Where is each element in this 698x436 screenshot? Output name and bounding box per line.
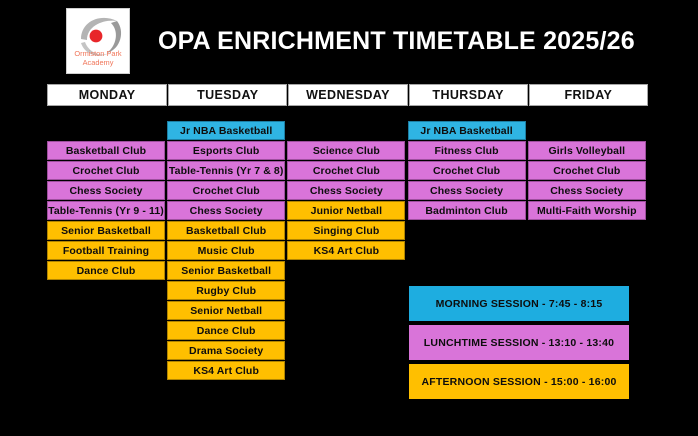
- activity-cell[interactable]: Science Club: [287, 141, 405, 160]
- activity-cell[interactable]: Girls Volleyball: [528, 141, 646, 160]
- activity-cell[interactable]: Table-Tennis (Yr 9 - 11): [47, 201, 165, 220]
- day-column-friday: Girls VolleyballCrochet ClubChess Societ…: [528, 121, 646, 221]
- svg-text:Academy: Academy: [83, 58, 114, 67]
- activity-cell[interactable]: Crochet Club: [47, 161, 165, 180]
- activity-cell[interactable]: Esports Club: [167, 141, 285, 160]
- activity-cell[interactable]: Rugby Club: [167, 281, 285, 300]
- svg-text:Ormiston Park: Ormiston Park: [74, 49, 122, 58]
- day-header-friday: FRIDAY: [529, 84, 648, 106]
- empty-slot: [528, 121, 646, 140]
- day-header-thursday: THURSDAY: [409, 84, 528, 106]
- activity-cell[interactable]: Basketball Club: [167, 221, 285, 240]
- activity-cell[interactable]: Crochet Club: [528, 161, 646, 180]
- activity-cell[interactable]: Fitness Club: [408, 141, 526, 160]
- activity-cell[interactable]: Crochet Club: [408, 161, 526, 180]
- page-title: OPA ENRICHMENT TIMETABLE 2025/26: [158, 20, 608, 62]
- activity-cell[interactable]: KS4 Art Club: [167, 361, 285, 380]
- activity-cell[interactable]: Crochet Club: [287, 161, 405, 180]
- activity-cell[interactable]: Crochet Club: [167, 181, 285, 200]
- activity-cell[interactable]: Singing Club: [287, 221, 405, 240]
- empty-slot: [287, 121, 405, 140]
- logo-graphic: Ormiston Park Academy: [67, 9, 129, 73]
- activity-cell[interactable]: Badminton Club: [408, 201, 526, 220]
- activity-cell[interactable]: Senior Netball: [167, 301, 285, 320]
- activity-cell[interactable]: Chess Society: [408, 181, 526, 200]
- day-column-thursday: Jr NBA BasketballFitness ClubCrochet Clu…: [408, 121, 526, 221]
- activity-cell[interactable]: Jr NBA Basketball: [167, 121, 285, 140]
- day-header-tuesday: TUESDAY: [168, 84, 287, 106]
- activity-cell[interactable]: KS4 Art Club: [287, 241, 405, 260]
- day-column-wednesday: Science ClubCrochet ClubChess SocietyJun…: [287, 121, 405, 261]
- session-legend: MORNING SESSION - 7:45 - 8:15LUNCHTIME S…: [408, 285, 630, 402]
- empty-slot: [47, 121, 165, 140]
- activity-cell[interactable]: Football Training: [47, 241, 165, 260]
- legend-morning: MORNING SESSION - 7:45 - 8:15: [408, 285, 630, 322]
- legend-lunch: LUNCHTIME SESSION - 13:10 - 13:40: [408, 324, 630, 361]
- activity-cell[interactable]: Chess Society: [528, 181, 646, 200]
- day-header-monday: MONDAY: [47, 84, 167, 106]
- page-header: Ormiston Park Academy OPA ENRICHMENT TIM…: [0, 0, 698, 84]
- activity-cell[interactable]: Basketball Club: [47, 141, 165, 160]
- legend-afternoon: AFTERNOON SESSION - 15:00 - 16:00: [408, 363, 630, 400]
- activity-cell[interactable]: Chess Society: [287, 181, 405, 200]
- activity-cell[interactable]: Dance Club: [47, 261, 165, 280]
- activity-cell[interactable]: Table-Tennis (Yr 7 & 8): [167, 161, 285, 180]
- activity-cell[interactable]: Drama Society: [167, 341, 285, 360]
- activity-cell[interactable]: Multi-Faith Worship: [528, 201, 646, 220]
- activity-cell[interactable]: Chess Society: [47, 181, 165, 200]
- activity-cell[interactable]: Jr NBA Basketball: [408, 121, 526, 140]
- activity-cell[interactable]: Dance Club: [167, 321, 285, 340]
- day-header-wednesday: WEDNESDAY: [288, 84, 407, 106]
- activity-cell[interactable]: Chess Society: [167, 201, 285, 220]
- activity-cell[interactable]: Senior Basketball: [167, 261, 285, 280]
- day-column-tuesday: Jr NBA BasketballEsports ClubTable-Tenni…: [167, 121, 285, 381]
- activity-cell[interactable]: Music Club: [167, 241, 285, 260]
- activity-cell[interactable]: Junior Netball: [287, 201, 405, 220]
- activity-cell[interactable]: Senior Basketball: [47, 221, 165, 240]
- academy-logo: Ormiston Park Academy: [66, 8, 130, 74]
- day-header-row: MONDAYTUESDAYWEDNESDAYTHURSDAYFRIDAY: [47, 84, 648, 106]
- day-column-monday: Basketball ClubCrochet ClubChess Society…: [47, 121, 165, 281]
